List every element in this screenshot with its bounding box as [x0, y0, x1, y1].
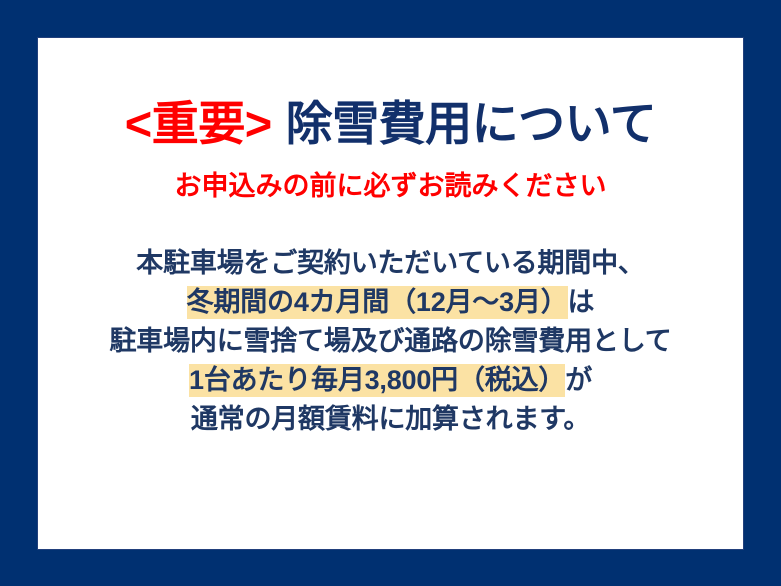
plain-text: 通常の月額賃料に加算されます。: [191, 404, 590, 434]
notice-frame: <重要> 除雪費用について お申込みの前に必ずお読みください 本駐車場をご契約い…: [0, 0, 781, 586]
title-important-tag: <重要>: [125, 100, 272, 147]
notice-body-line: 通常の月額賃料に加算されます。: [110, 400, 672, 439]
notice-body-line: 冬期間の4カ月間（12月～3月）は: [110, 283, 672, 322]
notice-body-line: 本駐車場をご契約いただいている期間中、: [110, 244, 672, 283]
notice-card: <重要> 除雪費用について お申込みの前に必ずお読みください 本駐車場をご契約い…: [37, 37, 744, 550]
plain-text: 駐車場内に雪捨て場及び通路の除雪費用として: [110, 326, 672, 356]
plain-text: は: [568, 287, 595, 317]
highlighted-text: 冬期間の4カ月間（12月～3月）: [187, 286, 568, 319]
notice-body: 本駐車場をご契約いただいている期間中、冬期間の4カ月間（12月～3月）は駐車場内…: [110, 244, 672, 438]
title-main-text: 除雪費用について: [286, 100, 657, 147]
notice-body-line: 1台あたり毎月3,800円（税込）が: [110, 361, 672, 400]
plain-text: が: [565, 365, 592, 395]
page-title: <重要> 除雪費用について: [125, 100, 657, 147]
page-subtitle: お申込みの前に必ずお読みください: [175, 173, 607, 200]
highlighted-text: 1台あたり毎月3,800円（税込）: [189, 364, 565, 397]
plain-text: 本駐車場をご契約いただいている期間中、: [136, 248, 644, 278]
notice-body-line: 駐車場内に雪捨て場及び通路の除雪費用として: [110, 322, 672, 361]
